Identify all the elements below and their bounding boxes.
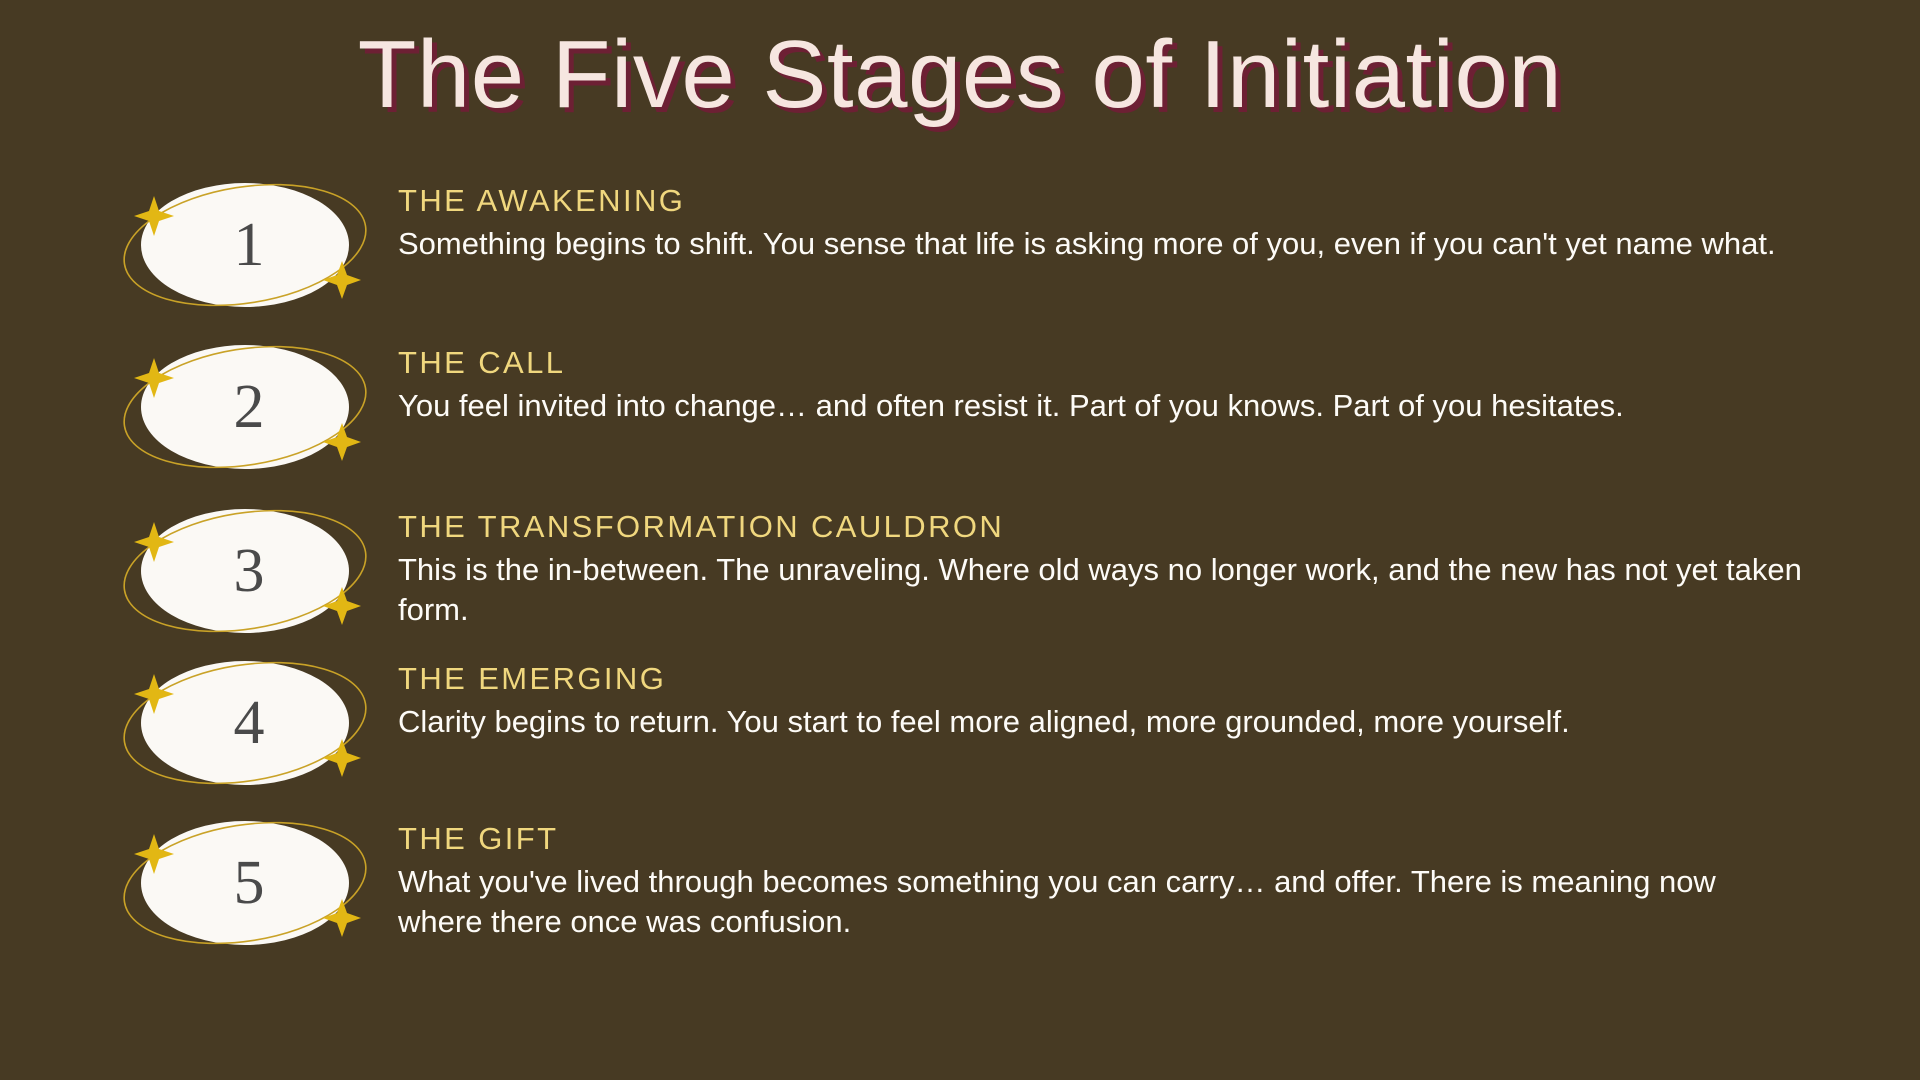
stage-number-badge: 2 xyxy=(110,337,380,477)
stage-text: THE TRANSFORMATION CAULDRON This is the … xyxy=(398,501,1828,630)
stage-text: THE GIFT What you've lived through becom… xyxy=(398,813,1828,942)
page-title: The Five Stages of Initiation xyxy=(0,22,1920,128)
stage-title: THE EMERGING xyxy=(398,663,1828,696)
stage-description: Clarity begins to return. You start to f… xyxy=(398,702,1808,742)
stage-title: THE TRANSFORMATION CAULDRON xyxy=(398,511,1828,544)
list-item: 1 THE AWAKENING Something begins to shif… xyxy=(0,175,1920,315)
list-item: 5 THE GIFT What you've lived through bec… xyxy=(0,813,1920,953)
stage-number: 2 xyxy=(110,337,380,477)
list-item: 3 THE TRANSFORMATION CAULDRON This is th… xyxy=(0,501,1920,641)
stage-description: This is the in-between. The unraveling. … xyxy=(398,550,1808,631)
stage-number: 5 xyxy=(110,813,380,953)
stage-text: THE CALL You feel invited into change… a… xyxy=(398,337,1828,426)
stage-description: Something begins to shift. You sense tha… xyxy=(398,224,1808,264)
stage-number: 3 xyxy=(110,501,380,641)
stage-number-badge: 5 xyxy=(110,813,380,953)
stage-title: THE GIFT xyxy=(398,823,1828,856)
stage-number-badge: 1 xyxy=(110,175,380,315)
list-item: 2 THE CALL You feel invited into change…… xyxy=(0,337,1920,477)
stage-description: What you've lived through becomes someth… xyxy=(398,862,1808,943)
list-item: 4 THE EMERGING Clarity begins to return.… xyxy=(0,653,1920,793)
stage-number-badge: 4 xyxy=(110,653,380,793)
stage-description: You feel invited into change… and often … xyxy=(398,386,1808,426)
stage-number: 1 xyxy=(110,175,380,315)
stage-number: 4 xyxy=(110,653,380,793)
stage-title: THE CALL xyxy=(398,347,1828,380)
stage-text: THE AWAKENING Something begins to shift.… xyxy=(398,175,1828,264)
stage-title: THE AWAKENING xyxy=(398,185,1828,218)
slide-canvas: The Five Stages of Initiation 1 THE AWAK… xyxy=(0,0,1920,1080)
stage-text: THE EMERGING Clarity begins to return. Y… xyxy=(398,653,1828,742)
stage-list: 1 THE AWAKENING Something begins to shif… xyxy=(0,175,1920,953)
stage-number-badge: 3 xyxy=(110,501,380,641)
